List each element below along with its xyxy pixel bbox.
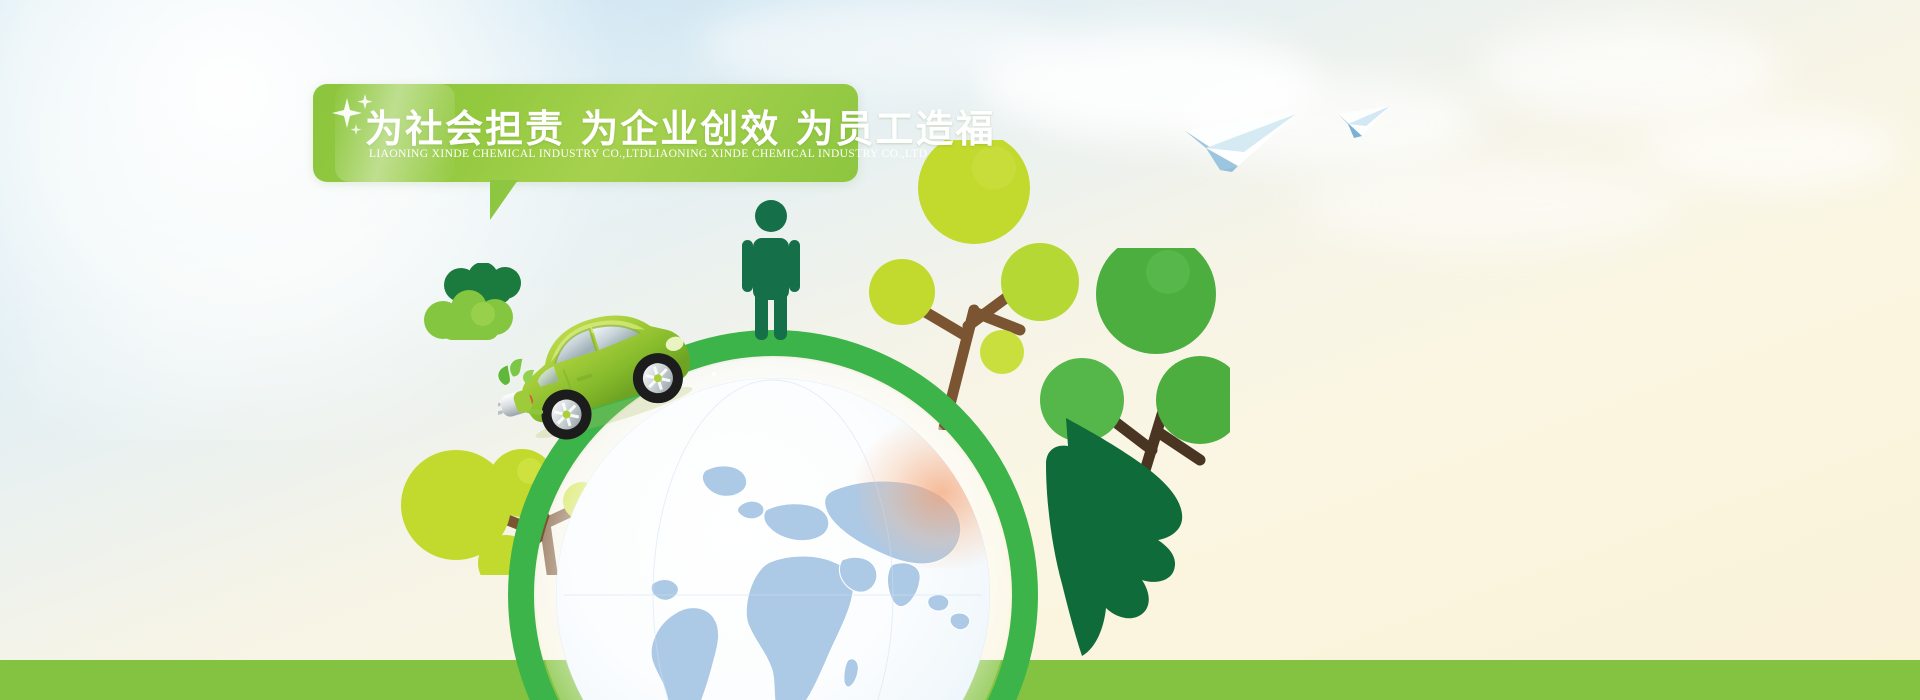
eco-corporate-banner: 为社会担责 为企业创效 为员工造福 LIAONING XINDE CHEMICA…	[0, 0, 1920, 700]
paper-plane-small	[1336, 104, 1392, 140]
cloud-1	[980, 30, 1320, 140]
cloud-5	[700, 0, 1060, 90]
person-pictogram	[740, 200, 802, 340]
cloud-3	[1480, 20, 1780, 120]
company-subtitle: LIAONING XINDE CHEMICAL INDUSTRY CO.,LTD…	[369, 148, 927, 160]
bubble-tail	[490, 180, 518, 220]
cloud-2	[1180, 78, 1480, 168]
cloud-4	[1640, 110, 1900, 190]
headline-bubble: 为社会担责 为企业创效 为员工造福 LIAONING XINDE CHEMICA…	[313, 84, 858, 182]
eco-electric-car	[498, 298, 708, 448]
cloud-6	[1300, 160, 1680, 250]
dark-green-leaf-bush	[1012, 398, 1202, 660]
paper-plane-large	[1180, 108, 1300, 172]
page-title: 为社会担责 为企业创效 为员工造福	[365, 98, 995, 153]
